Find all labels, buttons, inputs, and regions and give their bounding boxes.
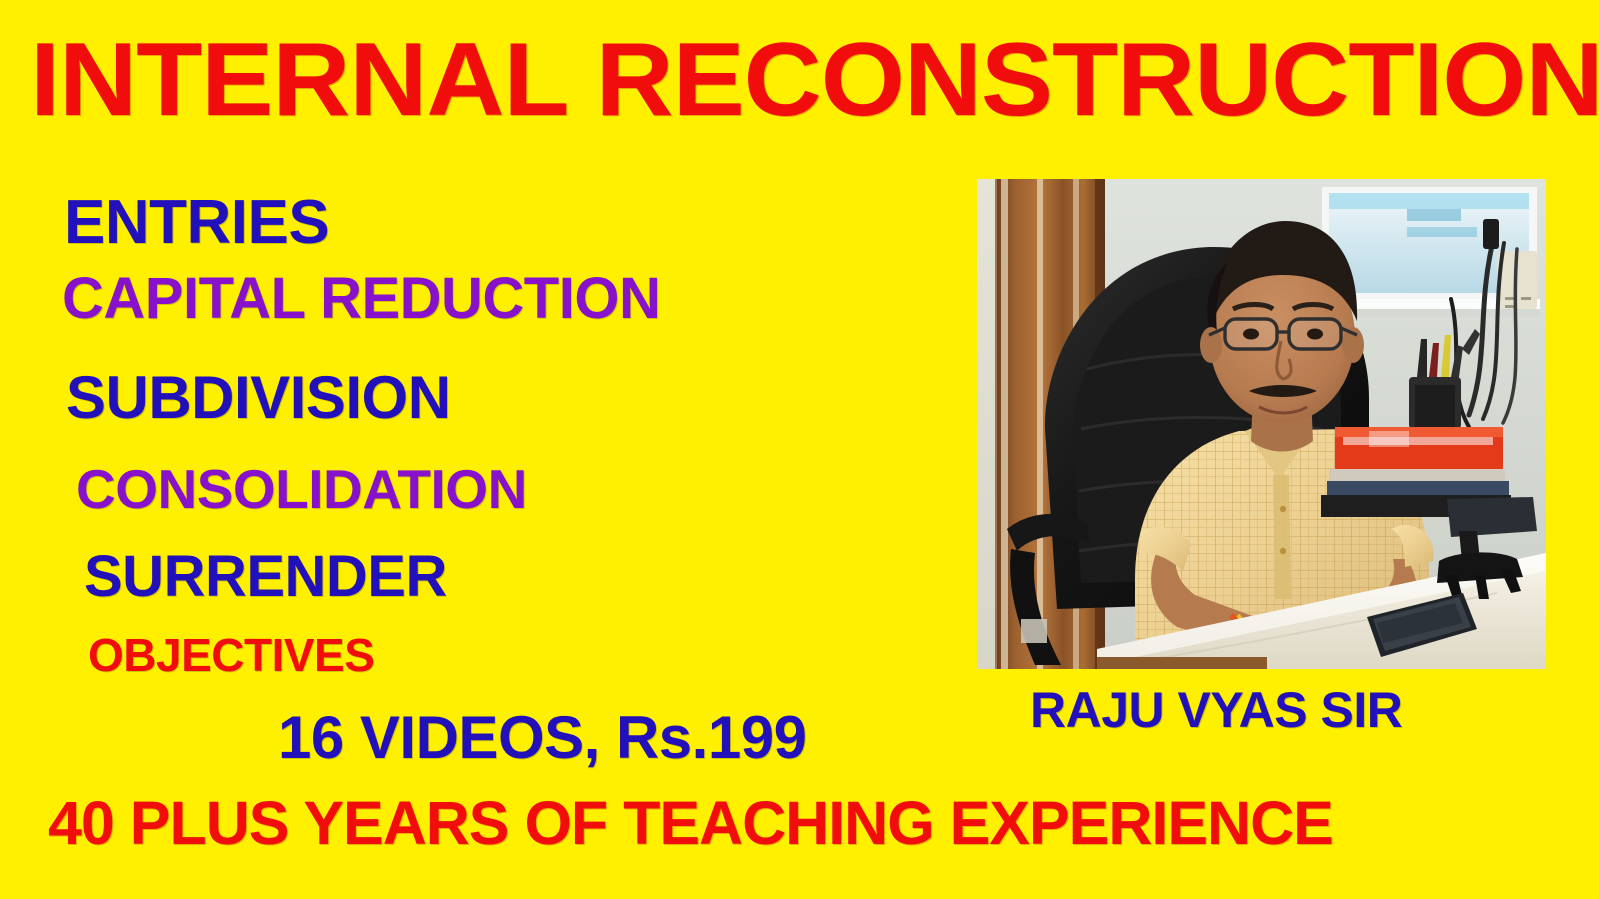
topic-item-subdivision: SUBDIVISION <box>66 368 451 428</box>
instructor-photo <box>977 179 1546 669</box>
page-title: INTERNAL RECONSTRUCTION <box>30 28 1599 132</box>
photo-cable-plug <box>1483 219 1499 249</box>
instructor-photo-illustration <box>977 179 1546 669</box>
topic-item-capital-reduction: CAPITAL REDUCTION <box>62 270 660 328</box>
course-promo-poster: INTERNAL RECONSTRUCTION ENTRIES CAPITAL … <box>0 0 1599 899</box>
topic-item-entries: ENTRIES <box>64 192 329 254</box>
topic-item-consolidation: CONSOLIDATION <box>76 462 527 517</box>
topic-item-surrender: SURRENDER <box>84 548 447 606</box>
offer-price-line: 16 VIDEOS, Rs.199 <box>278 708 806 768</box>
teaching-experience-line: 40 PLUS YEARS OF TEACHING EXPERIENCE <box>48 793 1333 854</box>
topic-item-objectives: OBJECTIVES <box>88 632 374 678</box>
instructor-name: RAJU VYAS SIR <box>1030 685 1402 735</box>
